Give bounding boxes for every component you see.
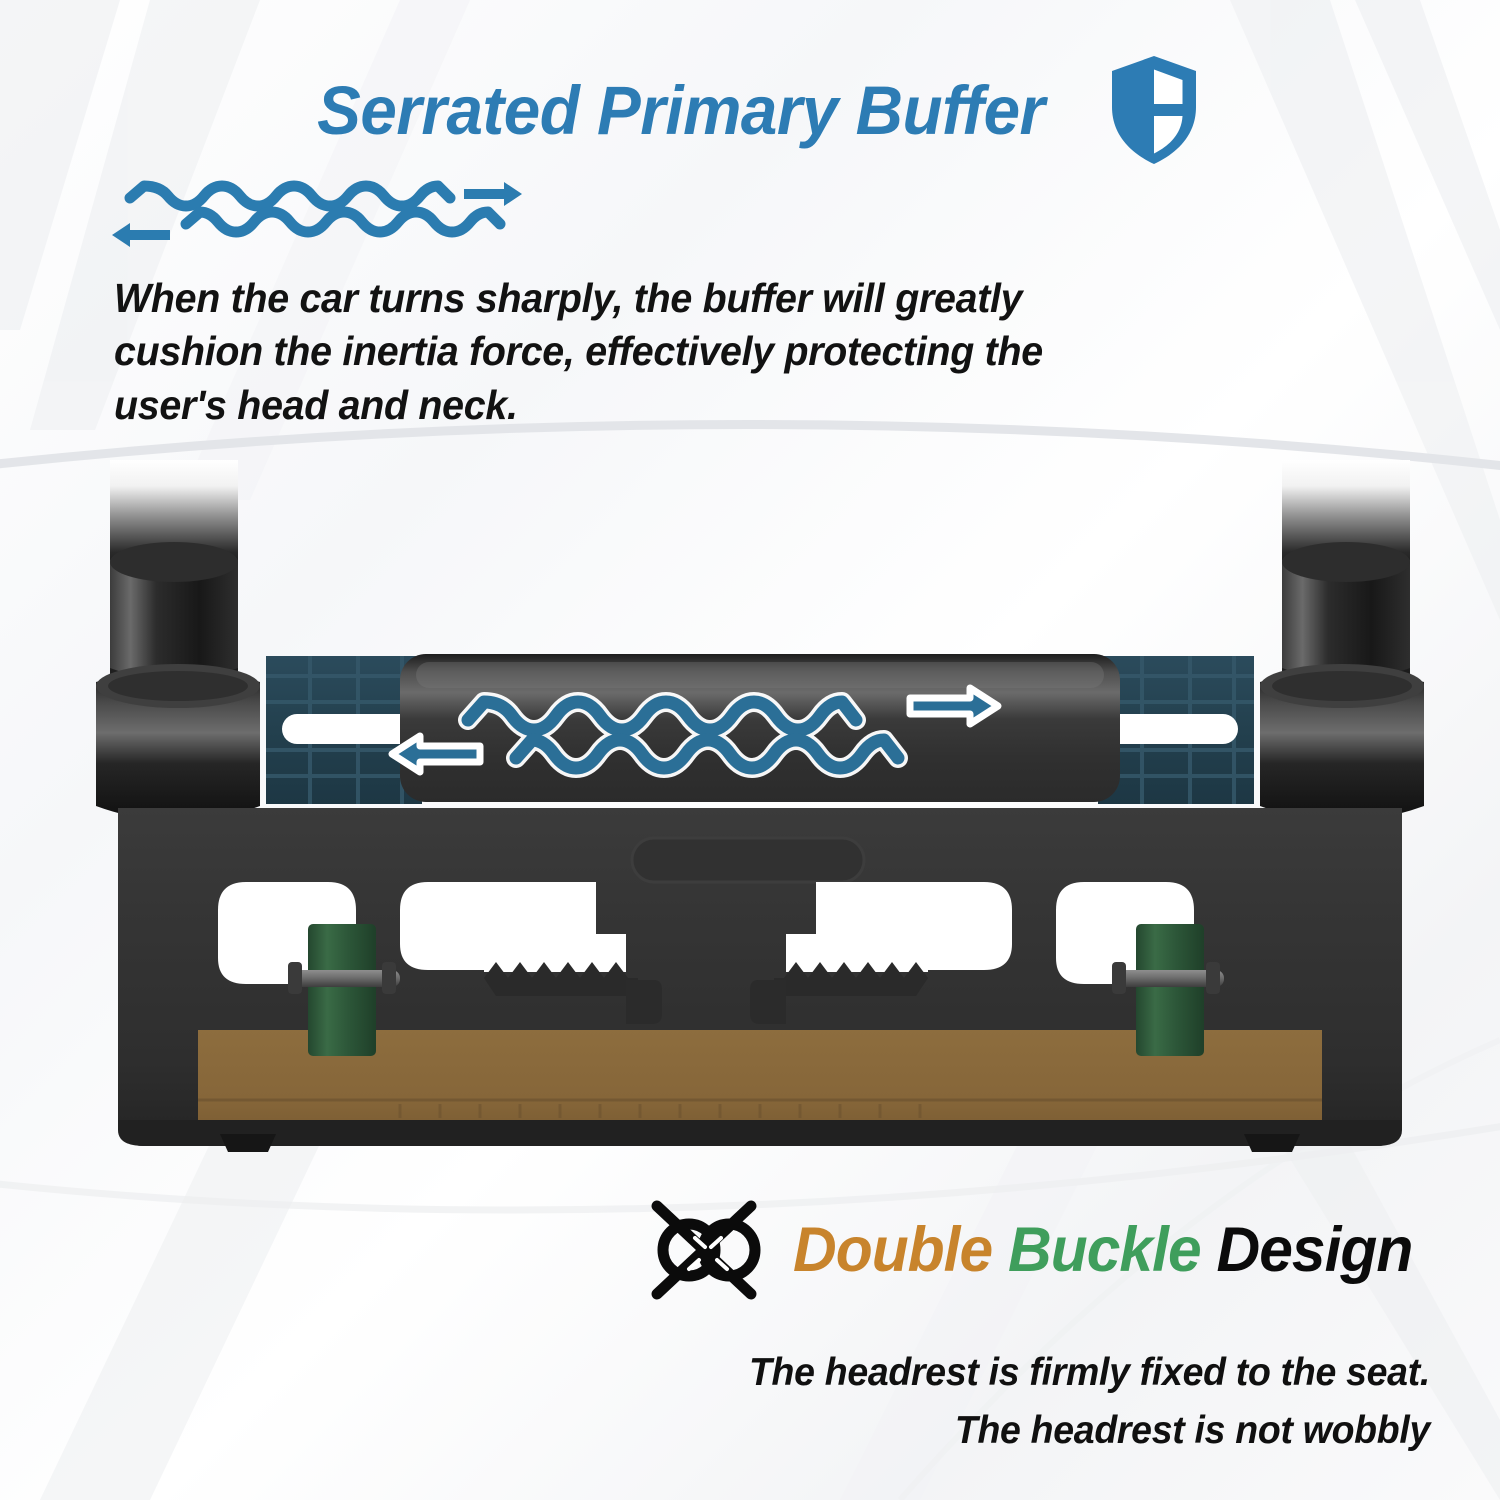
shield-icon [1106, 52, 1202, 168]
double-buckle-title: Double Buckle Design [793, 1219, 1412, 1282]
left-mounting-post [110, 460, 238, 698]
feature-description: The headrest is firmly fixed to the seat… [643, 1344, 1430, 1459]
buffer-wave-svg [108, 168, 528, 254]
bottom-tab-left [220, 1134, 276, 1152]
center-recess-tab [632, 838, 864, 882]
green-roller-left [308, 924, 376, 1056]
product-image-svg [70, 440, 1450, 1200]
bottom-edge-detail [118, 1120, 1402, 1152]
title-word-design: Design [1216, 1215, 1412, 1285]
infographic-page: Serrated Primary Buffer When the car tur… [0, 0, 1500, 1500]
green-roller-right [1136, 924, 1204, 1056]
buffer-wave-icon [108, 168, 528, 254]
page-title: Serrated Primary Buffer [317, 76, 1044, 145]
title-word-buckle: Buckle [1008, 1215, 1201, 1285]
feature-description-line2: The headrest is not wobbly [643, 1402, 1430, 1460]
page-title-row: Serrated Primary Buffer [0, 52, 1500, 168]
bottom-tab-right [1244, 1134, 1300, 1152]
double-buckle-heading: Double Buckle Design [649, 1198, 1438, 1302]
right-rotation-joint [1260, 664, 1424, 821]
body-paragraph: When the car turns sharply, the buffer w… [114, 272, 1084, 432]
upper-cross-bar [400, 654, 1120, 802]
right-mounting-post [1282, 460, 1410, 698]
title-word-double: Double [793, 1215, 992, 1285]
feature-description-line1: The headrest is firmly fixed to the seat… [643, 1344, 1430, 1402]
double-buckle-knot-icon [649, 1198, 767, 1302]
left-rotation-joint [96, 664, 260, 821]
product-image [70, 440, 1450, 1200]
